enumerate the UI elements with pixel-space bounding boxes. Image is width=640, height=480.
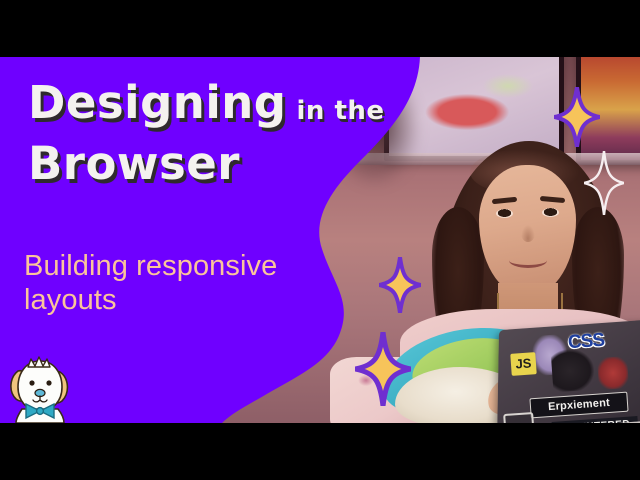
- presenter-eye-left: [496, 209, 513, 218]
- title-designing: Designing: [28, 81, 287, 124]
- bottom-letterbox-bar: [0, 423, 640, 480]
- title-in-the: in the: [297, 99, 385, 124]
- sparkle-top-right-filled: [554, 87, 600, 152]
- title-browser: Browser: [28, 137, 240, 190]
- dino-sticker: [551, 348, 596, 393]
- subtitle-text: Building responsive layouts: [24, 249, 354, 317]
- presenter-nose: [521, 225, 535, 242]
- video-frame: CSS JS Erpxiement CENTERED: [0, 57, 640, 423]
- title-row-two: Browser: [28, 142, 385, 185]
- title-block: Designing in the Browser: [28, 81, 385, 185]
- sparkle-mid-filled: [379, 257, 421, 318]
- thumbnail-canvas: CSS JS Erpxiement CENTERED: [0, 0, 640, 480]
- title-row-one: Designing in the: [28, 81, 385, 124]
- presenter-eye-right: [542, 208, 559, 217]
- css-sticker: CSS: [567, 330, 605, 354]
- red-blob-sticker: [597, 356, 629, 390]
- toolbox-sticker: [503, 412, 535, 423]
- presenter-smile: [509, 253, 547, 268]
- js-sticker: JS: [510, 352, 536, 376]
- dog-logo: [4, 355, 76, 423]
- top-letterbox-bar: [0, 0, 640, 57]
- sparkle-lower-filled: [355, 332, 411, 411]
- sparkle-top-right-outline: [584, 151, 624, 220]
